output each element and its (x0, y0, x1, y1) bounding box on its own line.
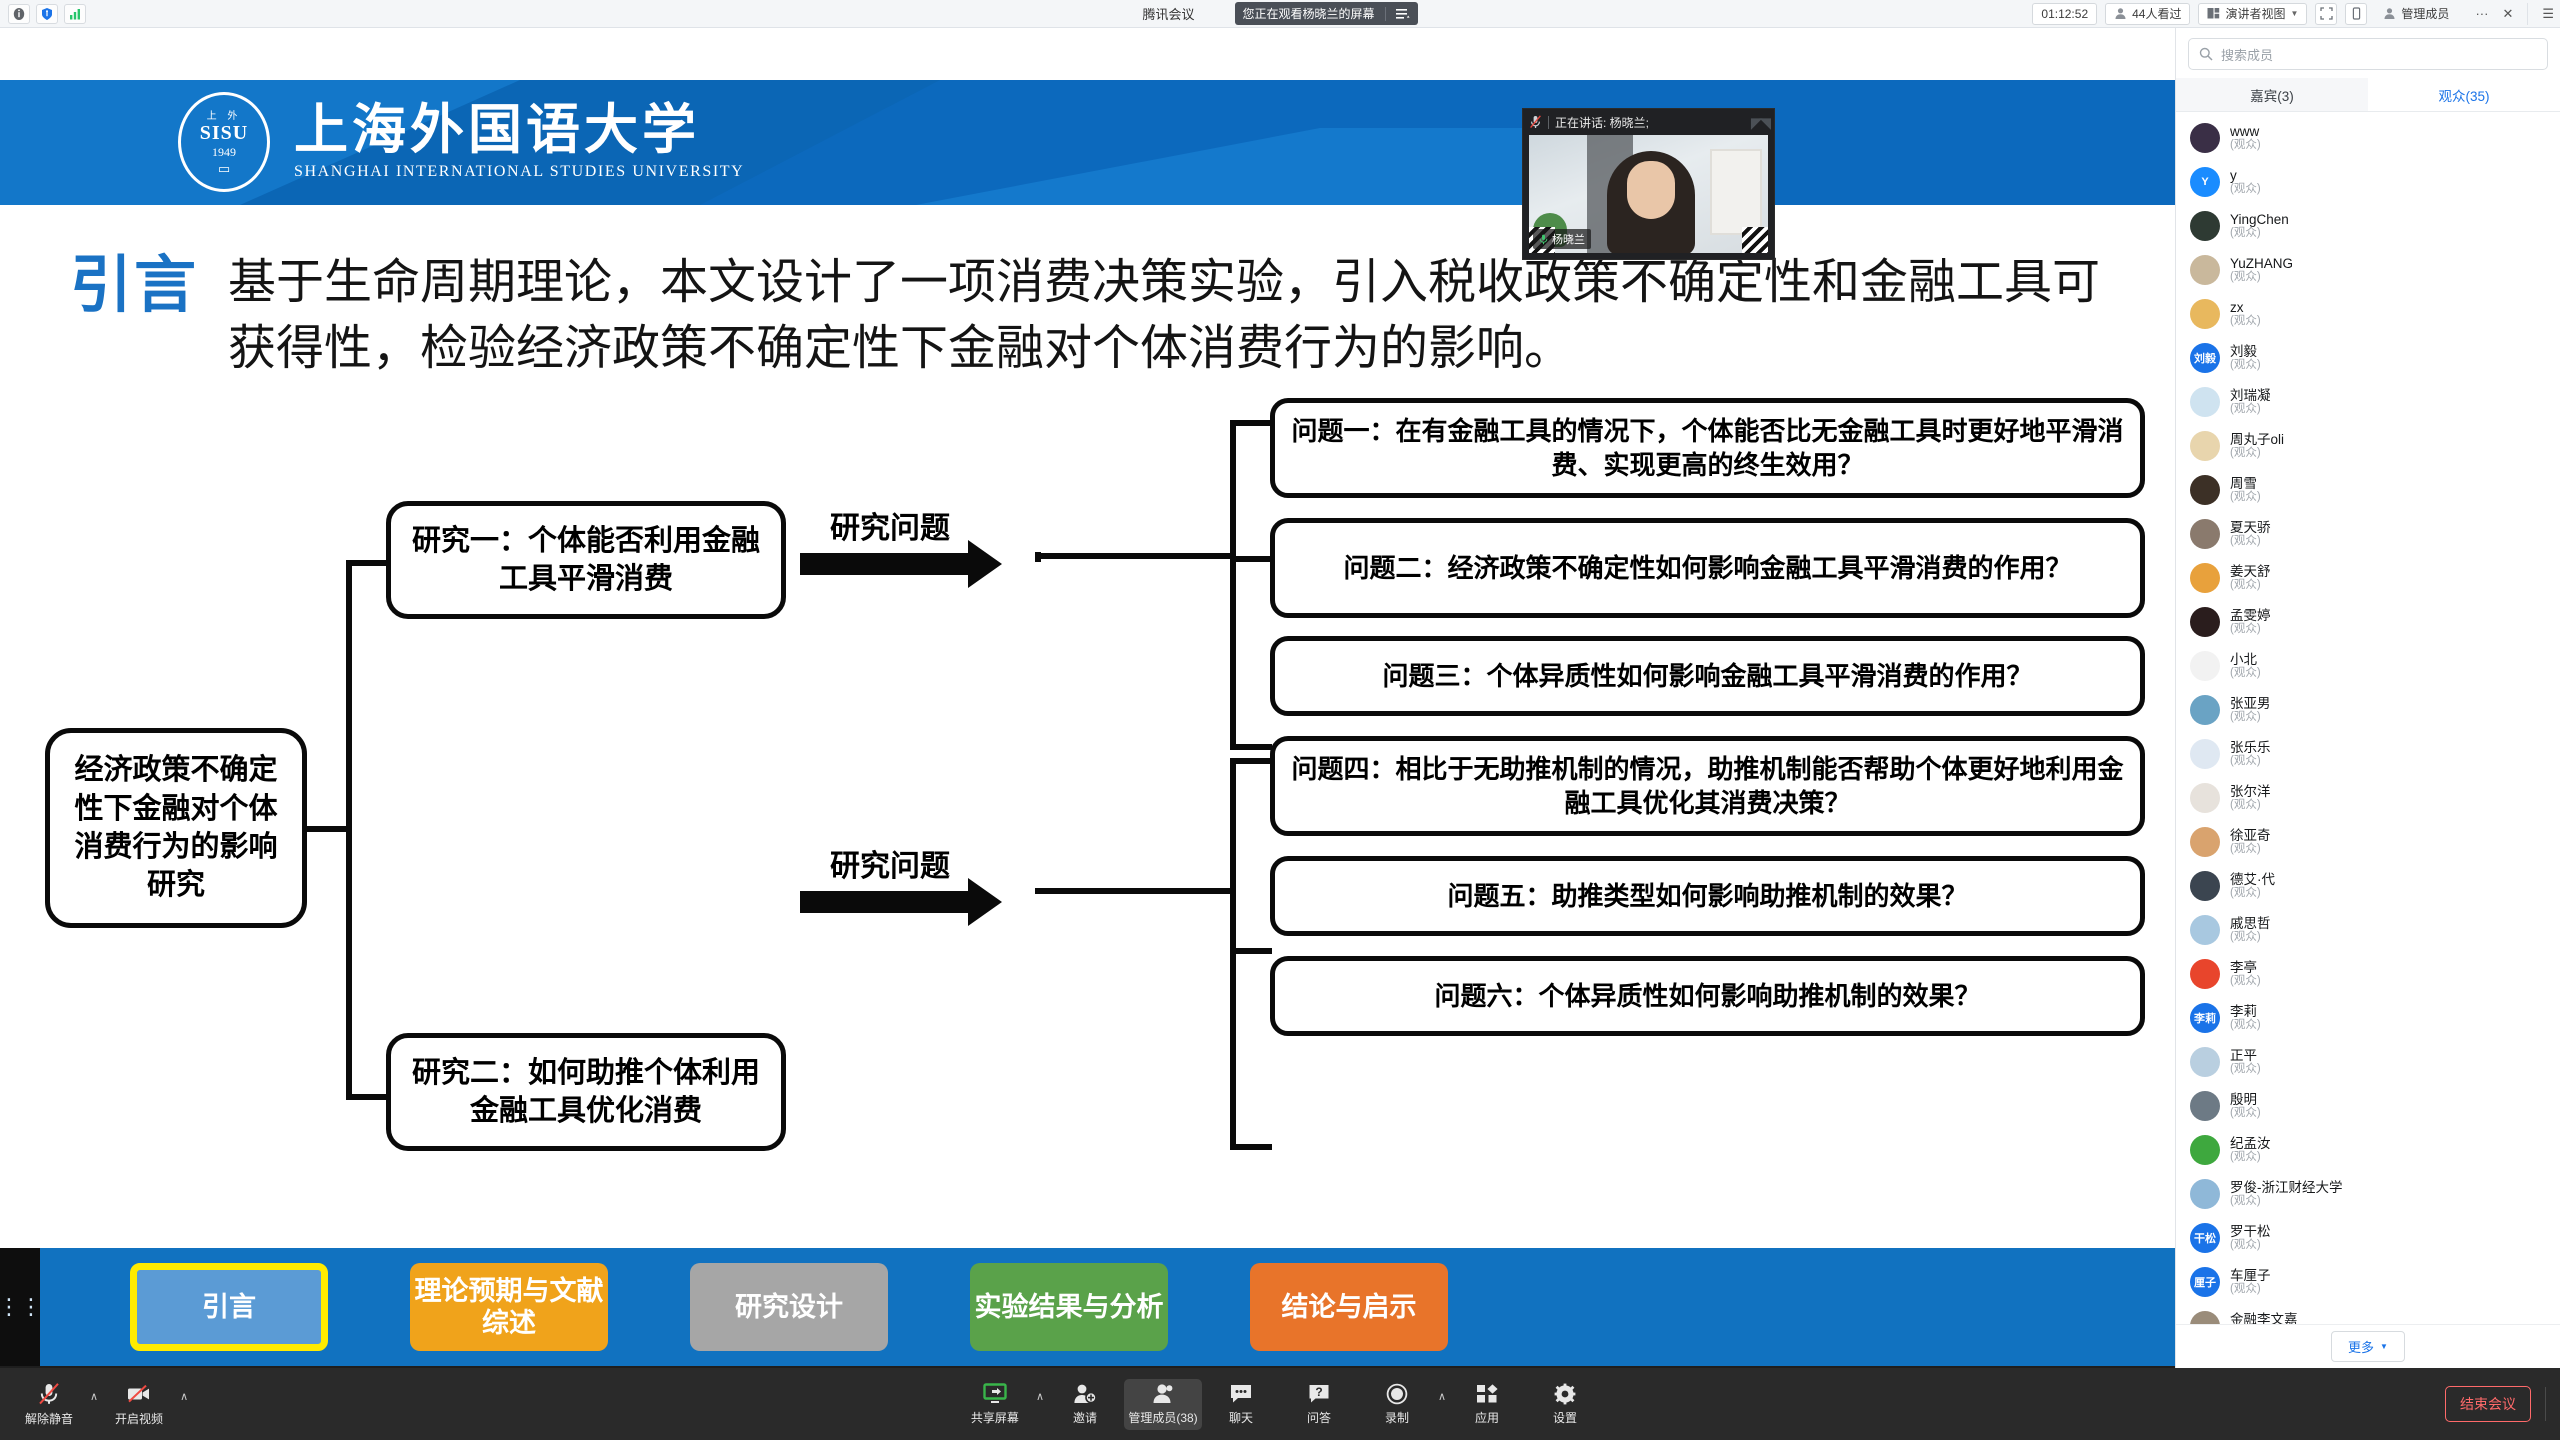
participant-info: www(观众) (2230, 124, 2261, 153)
avatar (2190, 211, 2220, 241)
university-seal-icon: 上 外 SISU 1949 ▭ (178, 92, 270, 192)
invite-button[interactable]: 邀请 (1046, 1379, 1124, 1430)
slide-nav-item-3[interactable]: 研究设计 (690, 1263, 888, 1351)
qa-button[interactable]: ? 问答 (1280, 1379, 1358, 1430)
connector-to-study1 (346, 560, 386, 566)
tencent-meeting-logo-icon: ◤◥ (1751, 114, 1768, 132)
pip-header: 正在讲话: 杨晓兰; ◤◥ (1523, 109, 1774, 135)
seal-mono-text: SISU (200, 122, 248, 145)
list-item[interactable]: 张尔洋(观众) (2176, 776, 2560, 820)
invite-person-icon (1073, 1383, 1097, 1405)
connector-bracket-top (1230, 420, 1236, 750)
participant-role: (观众) (2230, 315, 2261, 328)
connector-to-study2 (346, 1094, 386, 1100)
participant-role: (观众) (2230, 1283, 2271, 1296)
participant-info: 殷明(观众) (2230, 1092, 2261, 1121)
mic-muted-icon (1529, 115, 1542, 129)
divider (1385, 7, 1386, 21)
question-node-6: 问题六：个体异质性如何影响助推机制的效果？ (1270, 956, 2145, 1036)
avatar (2190, 915, 2220, 945)
list-item[interactable]: 周丸子oli(观众) (2176, 424, 2560, 468)
arrow-head-2 (968, 878, 1002, 926)
list-item[interactable]: zx(观众) (2176, 292, 2560, 336)
record-options-caret-icon[interactable]: ∧ (1436, 1390, 1448, 1419)
avatar (2190, 1135, 2220, 1165)
participant-role: (观众) (2230, 535, 2271, 548)
connector-q2 (1230, 556, 1272, 562)
participant-info: 正平(观众) (2230, 1048, 2261, 1077)
participant-name: y (2230, 168, 2261, 184)
participant-info: 徐亚奇(观众) (2230, 828, 2271, 857)
speaker-pip-window[interactable]: 正在讲话: 杨晓兰; ◤◥ 杨晓兰 (1522, 108, 1775, 260)
participant-info: YingChen(观众) (2230, 212, 2289, 241)
list-item[interactable]: 纪孟汝(观众) (2176, 1128, 2560, 1172)
arrow-shaft-1 (800, 553, 970, 575)
slide-nav-item-5[interactable]: 结论与启示 (1250, 1263, 1448, 1351)
participant-role: (观众) (2230, 1107, 2261, 1120)
list-item[interactable]: 张亚男(观众) (2176, 688, 2560, 732)
list-item[interactable]: 李莉李莉(观众) (2176, 996, 2560, 1040)
avatar (2190, 783, 2220, 813)
record-button[interactable]: 录制 (1358, 1379, 1436, 1430)
participant-role: (观众) (2230, 623, 2271, 636)
avatar (2190, 475, 2220, 505)
list-item[interactable]: 孟雯婷(观众) (2176, 600, 2560, 644)
participant-role: (观众) (2230, 359, 2261, 372)
question-node-2: 问题二：经济政策不确定性如何影响金融工具平滑消费的作用？ (1270, 518, 2145, 618)
connector-bracket-top-link (1035, 553, 1235, 559)
avatar (2190, 123, 2220, 153)
participant-info: YuZHANG(观众) (2230, 256, 2293, 285)
connector-root-bracket (346, 560, 352, 1100)
participant-role: (观众) (2230, 1063, 2261, 1076)
slide-title-row: 引言 基于生命周期理论，本文设计了一项消费决策实验，引入税收政策不确定性和金融工… (70, 250, 2130, 382)
participant-name: zx (2230, 300, 2261, 316)
participant-name: 周丸子oli (2230, 432, 2284, 448)
list-item[interactable]: YingChen(观众) (2176, 204, 2560, 248)
share-screen-icon (982, 1383, 1008, 1405)
connector-bracket-bottom (1230, 758, 1236, 1150)
list-item[interactable]: www(观众) (2176, 116, 2560, 160)
participant-role: (观众) (2230, 139, 2261, 152)
participant-role: (观众) (2230, 403, 2271, 416)
apps-grid-icon (1475, 1383, 1499, 1405)
list-item[interactable]: 厘子车厘子(观众) (2176, 1260, 2560, 1304)
participant-info: 姜天舒(观众) (2230, 564, 2271, 593)
more-button[interactable]: 更多 ▼ (2331, 1331, 2405, 1362)
participant-role: (观众) (2230, 887, 2275, 900)
participant-info: 周雪(观众) (2230, 476, 2261, 505)
gear-icon (1553, 1383, 1577, 1405)
avatar (2190, 1091, 2220, 1121)
participant-role: (观众) (2230, 1019, 2261, 1032)
research-question-diagram: 经济政策不确定性下金融对个体消费行为的影响研究 研究一：个体能否利用金融工具平滑… (0, 448, 2175, 1248)
divider (1548, 116, 1549, 129)
list-item[interactable]: 刘瑞凝(观众) (2176, 380, 2560, 424)
participant-role: (观众) (2230, 183, 2261, 196)
participant-name: 周雪 (2230, 476, 2261, 492)
slide-header-banner: 上 外 SISU 1949 ▭ 上海外国语大学 SHANGHAI INTERNA… (0, 80, 2175, 205)
tab-guests[interactable]: 嘉宾(3) (2176, 78, 2368, 111)
avatar (2190, 299, 2220, 329)
list-item[interactable]: 刘毅刘毅(观众) (2176, 336, 2560, 380)
avatar (2190, 1047, 2220, 1077)
branch-label-2: 研究问题 (830, 841, 950, 885)
participant-role: (观众) (2230, 975, 2261, 988)
avatar: 干松 (2190, 1223, 2220, 1253)
pip-speaking-label: 正在讲话: 杨晓兰; (1555, 114, 1649, 131)
avatar (2190, 871, 2220, 901)
avatar: 厘子 (2190, 1267, 2220, 1297)
participant-info: 张尔洋(观众) (2230, 784, 2271, 813)
qa-question-icon: ? (1307, 1383, 1331, 1405)
chat-label: 聊天 (1229, 1409, 1253, 1426)
participant-name: 孟雯婷 (2230, 608, 2271, 624)
slide-section-label: 引言 (70, 250, 198, 321)
participant-name: 小北 (2230, 652, 2261, 668)
participant-name: 罗俊-浙江财经大学 (2230, 1180, 2343, 1196)
avatar (2190, 563, 2220, 593)
avatar: 李莉 (2190, 1003, 2220, 1033)
list-item[interactable]: 李亭(观众) (2176, 952, 2560, 996)
participant-info: 罗俊-浙江财经大学(观众) (2230, 1180, 2343, 1209)
question-node-4: 问题四：相比于无助推机制的情况，助推机制能否帮助个体更好地利用金融工具优化其消费… (1270, 736, 2145, 836)
share-options-caret-icon[interactable]: ∧ (1034, 1390, 1046, 1419)
shared-screen-stage[interactable]: 上 外 SISU 1949 ▭ 上海外国语大学 SHANGHAI INTERNA… (0, 28, 2175, 1368)
participant-list[interactable]: www(观众)Yy(观众)YingChen(观众)YuZHANG(观众)zx(观… (2176, 112, 2560, 1324)
participant-role: (观众) (2230, 271, 2293, 284)
svg-text:?: ? (1315, 1385, 1322, 1399)
share-screen-label: 共享屏幕 (971, 1409, 1019, 1426)
participant-name: 车厘子 (2230, 1268, 2271, 1284)
list-item[interactable]: 德艾·代(观众) (2176, 864, 2560, 908)
record-circle-icon (1385, 1383, 1409, 1405)
list-item[interactable]: 姜天舒(观众) (2176, 556, 2560, 600)
chevron-down-icon: ▼ (2380, 1342, 2388, 1351)
participant-role: (观众) (2230, 1239, 2271, 1252)
avatar (2190, 1311, 2220, 1324)
list-item[interactable]: 戚思哲(观众) (2176, 908, 2560, 952)
participant-info: 夏天骄(观众) (2230, 520, 2271, 549)
participant-info: 张乐乐(观众) (2230, 740, 2271, 769)
drag-grip-icon[interactable]: ⋮⋮ (0, 1248, 40, 1366)
share-screen-button[interactable]: 共享屏幕 (956, 1379, 1034, 1430)
university-logo: 上 外 SISU 1949 ▭ 上海外国语大学 SHANGHAI INTERNA… (178, 92, 744, 192)
connector-q6 (1230, 1144, 1272, 1150)
list-item[interactable]: 金融李文嘉(观众) (2176, 1304, 2560, 1324)
participant-name: 姜天舒 (2230, 564, 2271, 580)
apps-label: 应用 (1475, 1409, 1499, 1426)
meeting-window: 腾讯会议 您正在观看杨晓兰的屏幕 01:12:52 44人看过 (0, 0, 2560, 1440)
invite-label: 邀请 (1073, 1409, 1097, 1426)
speaker-face (1627, 161, 1675, 219)
list-item[interactable]: 徐亚奇(观众) (2176, 820, 2560, 864)
avatar: Y (2190, 167, 2220, 197)
diagram-study-2-node: 研究二：如何助推个体利用金融工具优化消费 (386, 1033, 786, 1151)
list-item[interactable]: 张乐乐(观众) (2176, 732, 2560, 776)
participant-role: (观众) (2230, 667, 2261, 680)
manage-members-count-label: 管理成员(38) (1128, 1409, 1197, 1426)
participant-name: 戚思哲 (2230, 916, 2271, 932)
participant-role: (观众) (2230, 843, 2271, 856)
participant-info: 戚思哲(观众) (2230, 916, 2271, 945)
video-corner-marker-right (1742, 227, 1768, 253)
participant-name: 张尔洋 (2230, 784, 2271, 800)
list-item[interactable]: 干松罗干松(观众) (2176, 1216, 2560, 1260)
chat-button[interactable]: 聊天 (1202, 1379, 1280, 1430)
connector-q4 (1230, 758, 1272, 764)
participant-name: 张乐乐 (2230, 740, 2271, 756)
arrow-head-1 (968, 540, 1002, 588)
list-item[interactable]: 小北(观众) (2176, 644, 2560, 688)
participant-name: 罗干松 (2230, 1224, 2271, 1240)
participant-info: 金融李文嘉(观众) (2230, 1312, 2298, 1324)
question-node-3: 问题三：个体异质性如何影响金融工具平滑消费的作用？ (1270, 636, 2145, 716)
connector-q5 (1230, 948, 1272, 954)
presentation-slide: 上 外 SISU 1949 ▭ 上海外国语大学 SHANGHAI INTERNA… (0, 28, 2175, 1366)
avatar (2190, 607, 2220, 637)
participant-name: 正平 (2230, 1048, 2261, 1064)
participant-role: (观众) (2230, 711, 2271, 724)
speaker-video: 杨晓兰 (1529, 135, 1768, 253)
participant-role: (观众) (2230, 227, 2289, 240)
participant-info: 车厘子(观众) (2230, 1268, 2271, 1297)
list-item[interactable]: 殷明(观众) (2176, 1084, 2560, 1128)
participant-role: (观众) (2230, 755, 2271, 768)
diagram-study-1-node: 研究一：个体能否利用金融工具平滑消费 (386, 501, 786, 619)
participant-role: (观众) (2230, 1195, 2343, 1208)
list-item[interactable]: 周雪(观众) (2176, 468, 2560, 512)
slide-section-text: 基于生命周期理论，本文设计了一项消费决策实验，引入税收政策不确定性和金融工具可获… (228, 250, 2130, 382)
participant-name: 金融李文嘉 (2230, 1312, 2298, 1324)
apps-button[interactable]: 应用 (1448, 1379, 1526, 1430)
search-input[interactable]: 搜索成员 (2188, 38, 2548, 70)
list-item[interactable]: YuZHANG(观众) (2176, 248, 2560, 292)
seal-year-text: 1949 (212, 145, 236, 160)
participant-info: 小北(观众) (2230, 652, 2261, 681)
tab-audience[interactable]: 观众(35) (2368, 78, 2560, 111)
seal-top-text: 上 外 (207, 107, 242, 122)
more-button-label: 更多 (2348, 1337, 2374, 1356)
chat-bubble-icon (1229, 1383, 1253, 1405)
participant-info: 纪孟汝(观众) (2230, 1136, 2271, 1165)
avatar (2190, 255, 2220, 285)
slide-nav-items: 引言 理论预期与文献综述 研究设计 实验结果与分析 结论与启示 (40, 1263, 1448, 1351)
search-placeholder: 搜索成员 (2221, 45, 2273, 64)
slide-nav-item-4[interactable]: 实验结果与分析 (970, 1263, 1168, 1351)
avatar (2190, 1179, 2220, 1209)
participants-panel-footer: 更多 ▼ (2176, 1324, 2560, 1368)
diagram-root-node: 经济政策不确定性下金融对个体消费行为的影响研究 (45, 728, 307, 928)
slide-nav-item-1[interactable]: 引言 (130, 1263, 328, 1351)
title-bar-center: 腾讯会议 您正在观看杨晓兰的屏幕 (0, 2, 2560, 25)
university-name-en: SHANGHAI INTERNATIONAL STUDIES UNIVERSIT… (294, 163, 744, 181)
participant-info: zx(观众) (2230, 300, 2261, 329)
speaker-name-tag: 杨晓兰 (1533, 229, 1591, 249)
connector-q1 (1230, 420, 1272, 426)
connector-q3 (1230, 744, 1272, 750)
seal-book-icon: ▭ (218, 161, 230, 177)
question-node-5: 问题五：助推类型如何影响助推机制的效果？ (1270, 856, 2145, 936)
participant-name: 李亭 (2230, 960, 2261, 976)
participant-info: 李莉(观众) (2230, 1004, 2261, 1033)
participant-info: 孟雯婷(观众) (2230, 608, 2271, 637)
qa-label: 问答 (1307, 1409, 1331, 1426)
avatar: 刘毅 (2190, 343, 2220, 373)
participant-name: 刘瑞凝 (2230, 388, 2271, 404)
university-name-cn: 上海外国语大学 (294, 103, 744, 157)
participant-role: (观众) (2230, 579, 2271, 592)
avatar (2190, 387, 2220, 417)
participant-role: (观众) (2230, 447, 2284, 460)
record-label: 录制 (1385, 1409, 1409, 1426)
slide-section-nav: ⋮⋮ 引言 理论预期与文献综述 研究设计 实验结果与分析 结论与启示 (0, 1248, 2175, 1366)
screen-share-tip: 您正在观看杨晓兰的屏幕 (1235, 2, 1418, 25)
participant-name: YuZHANG (2230, 256, 2293, 272)
participant-info: 李亭(观众) (2230, 960, 2261, 989)
branch-label-1: 研究问题 (830, 503, 950, 547)
participants-panel: 搜索成员 嘉宾(3) 观众(35) www(观众)Yy(观众)YingChen(… (2175, 28, 2560, 1368)
participant-name: 刘毅 (2230, 344, 2261, 360)
participant-name: 纪孟汝 (2230, 1136, 2271, 1152)
participant-name: 徐亚奇 (2230, 828, 2271, 844)
university-name-block: 上海外国语大学 SHANGHAI INTERNATIONAL STUDIES U… (294, 103, 744, 181)
participant-info: y(观众) (2230, 168, 2261, 197)
avatar (2190, 519, 2220, 549)
participant-name: www (2230, 124, 2261, 140)
participant-name: 德艾·代 (2230, 872, 2275, 888)
participant-info: 刘瑞凝(观众) (2230, 388, 2271, 417)
question-node-1: 问题一：在有金融工具的情况下，个体能否比无金融工具时更好地平滑消费、实现更高的终… (1270, 398, 2145, 498)
title-bar: 腾讯会议 您正在观看杨晓兰的屏幕 01:12:52 44人看过 (0, 0, 2560, 28)
app-title: 腾讯会议 (1142, 4, 1194, 23)
participant-name: 张亚男 (2230, 696, 2271, 712)
avatar (2190, 651, 2220, 681)
slide-nav-item-2[interactable]: 理论预期与文献综述 (410, 1263, 608, 1351)
participant-info: 刘毅(观众) (2230, 344, 2261, 373)
video-background-shelf (1710, 149, 1762, 235)
list-item[interactable]: 夏天骄(观众) (2176, 512, 2560, 556)
manage-members-button[interactable]: 管理成员(38) (1124, 1379, 1202, 1430)
participant-role: (观众) (2230, 931, 2271, 944)
participant-role: (观众) (2230, 491, 2261, 504)
avatar (2190, 739, 2220, 769)
list-item[interactable]: 正平(观众) (2176, 1040, 2560, 1084)
search-wrapper: 搜索成员 (2176, 28, 2560, 78)
participant-role: (观众) (2230, 1151, 2271, 1164)
avatar (2190, 959, 2220, 989)
participant-role: (观众) (2230, 799, 2271, 812)
participant-name: YingChen (2230, 212, 2289, 228)
participant-info: 张亚男(观众) (2230, 696, 2271, 725)
speaker-name-text: 杨晓兰 (1552, 231, 1585, 247)
main-area: 上 外 SISU 1949 ▭ 上海外国语大学 SHANGHAI INTERNA… (0, 28, 2560, 1368)
connector-bracket-bottom-link (1035, 888, 1235, 894)
participant-info: 周丸子oli(观众) (2230, 432, 2284, 461)
avatar (2190, 827, 2220, 857)
avatar (2190, 695, 2220, 725)
list-item[interactable]: 罗俊-浙江财经大学(观众) (2176, 1172, 2560, 1216)
participant-name: 李莉 (2230, 1004, 2261, 1020)
search-icon (2199, 47, 2213, 61)
participant-name: 殷明 (2230, 1092, 2261, 1108)
mic-on-icon (1539, 234, 1548, 245)
meeting-toolbar: 解除静音 ∧ 开启视频 ∧ 共享屏幕 ∧ (0, 1368, 2560, 1440)
participant-name: 夏天骄 (2230, 520, 2271, 536)
participant-info: 罗干松(观众) (2230, 1224, 2271, 1253)
participants-icon (1151, 1383, 1175, 1405)
list-item[interactable]: Yy(观众) (2176, 160, 2560, 204)
settings-button[interactable]: 设置 (1526, 1379, 1604, 1430)
arrow-shaft-2 (800, 891, 970, 913)
list-menu-icon[interactable] (1396, 8, 1410, 20)
toolbar-center-group: 共享屏幕 ∧ 邀请 管理成员(38) 聊天 (0, 1379, 2560, 1430)
settings-label: 设置 (1553, 1409, 1577, 1426)
participants-tabs: 嘉宾(3) 观众(35) (2176, 78, 2560, 112)
participant-info: 德艾·代(观众) (2230, 872, 2275, 901)
avatar (2190, 431, 2220, 461)
screen-share-tip-text: 您正在观看杨晓兰的屏幕 (1243, 5, 1375, 22)
